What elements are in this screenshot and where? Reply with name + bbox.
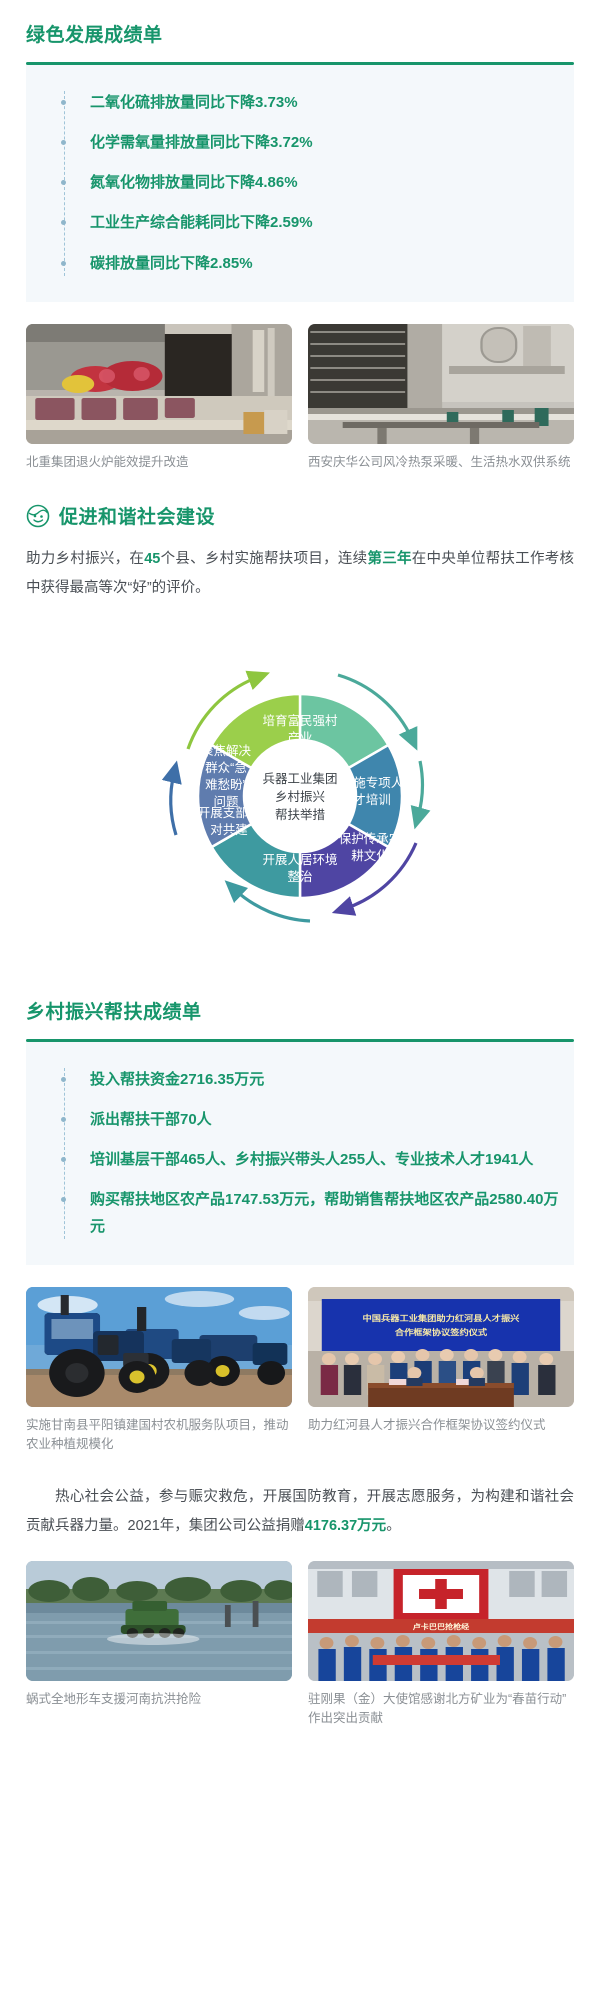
rural-section-title: 乡村振兴帮扶成绩单 (26, 999, 574, 1028)
annealing-furnace-photo (26, 324, 292, 444)
seg-label-industry-1: 培育富民强村 (262, 713, 338, 728)
list-item: 购买帮扶地区农产品1747.53万元，帮助销售帮扶地区农产品2580.40万元 (84, 1180, 564, 1247)
rural-image-col-2: 中国兵器工业集团助力红河县人才振兴 合作框架协议签约仪式 (308, 1287, 574, 1455)
harmony-paragraph: 助力乡村振兴，在45个县、乡村实施帮扶项目，连续第三年在中央单位帮扶工作考核中获… (26, 545, 574, 603)
embassy-thanks-photo: 卢卡巴巴抢枪经 (308, 1561, 574, 1681)
signing-ceremony-photo: 中国兵器工业集团助力红河县人才振兴 合作框架协议签约仪式 (308, 1287, 574, 1407)
seg-label-environment-1: 开展人居环境 (262, 852, 337, 867)
rural-image-row: 实施甘南县平阳镇建国村农机服务队项目，推动农业种植规模化 中国兵器工业集团助力红… (26, 1287, 574, 1455)
image-caption: 西安庆华公司风冷热泵采暖、生活热水双供系统 (308, 453, 574, 472)
seg-label-people-3: 难愁盼” (205, 778, 247, 792)
green-bullet-list: 二氧化硫排放量同比下降3.73% 化学需氧量排放量同比下降3.72% 氮氧化物排… (64, 83, 564, 284)
arrow-navy (171, 773, 176, 835)
welfare-highlight-donation: 4176.37万元 (305, 1518, 386, 1534)
list-item: 碳排放量同比下降2.85% (84, 244, 564, 284)
green-image-row: 北重集团退火炉能效提升改造 (26, 324, 574, 472)
arrow-teal-2 (418, 761, 422, 817)
seg-label-environment-2: 整治 (287, 869, 312, 884)
image-caption: 北重集团退火炉能效提升改造 (26, 453, 292, 472)
air-source-heat-pump-photo (308, 324, 574, 444)
harmony-section-header: 促进和谐社会建设 (0, 472, 600, 529)
rural-bullet-list: 投入帮扶资金2716.35万元 派出帮扶干部70人 培训基层干部465人、乡村振… (64, 1060, 564, 1247)
welfare-p1: 热心社会公益，参与赈灾救危，开展国防教育，开展志愿服务，为构建和谐社会贡献兵器力… (26, 1489, 574, 1534)
green-achievement-panel: 二氧化硫排放量同比下降3.73% 化学需氧量排放量同比下降3.72% 氮氧化物排… (26, 65, 574, 302)
center-label-1: 兵器工业集团 (262, 771, 337, 786)
welfare-image-col-1: 蜗式全地形车支援河南抗洪抢险 (26, 1561, 292, 1729)
green-section-header: 绿色发展成绩单 (0, 0, 600, 65)
image-caption: 实施甘南县平阳镇建国村农机服务队项目，推动农业种植规模化 (26, 1416, 292, 1455)
rural-image-col-1: 实施甘南县平阳镇建国村农机服务队项目，推动农业种植规模化 (26, 1287, 292, 1455)
flood-rescue-vehicle-photo (26, 1561, 292, 1681)
seg-label-people-2: 群众“急 (205, 760, 247, 775)
banner-text: 卢卡巴巴抢枪经 (413, 1621, 470, 1630)
seg-label-culture-1: 保护传承农 (339, 831, 402, 846)
green-section-title: 绿色发展成绩单 (26, 22, 574, 51)
rural-revitalization-donut-diagram: 培育富民强村 产业 实施专项人 才培训 保护传承农 耕文化 开展人居环境 整治 … (0, 621, 600, 951)
image-caption: 助力红河县人才振兴合作框架协议签约仪式 (308, 1416, 574, 1435)
harmony-highlight-counties: 45 (144, 551, 160, 567)
tractors-photo (26, 1287, 292, 1407)
welfare-image-col-2: 卢卡巴巴抢枪经 (308, 1561, 574, 1729)
harmony-highlight-thirdyear: 第三年 (367, 551, 411, 567)
harmony-section-title: 促进和谐社会建设 (59, 502, 215, 529)
svg-text:合作框架协议签约仪式: 合作框架协议签约仪式 (395, 1327, 488, 1337)
list-item: 二氧化硫排放量同比下降3.73% (84, 83, 564, 123)
rural-section-header: 乡村振兴帮扶成绩单 (0, 977, 600, 1042)
seg-label-culture-2: 耕文化 (351, 848, 389, 863)
report-page: 绿色发展成绩单 二氧化硫排放量同比下降3.73% 化学需氧量排放量同比下降3.7… (0, 0, 600, 1762)
list-item: 投入帮扶资金2716.35万元 (84, 1060, 564, 1100)
center-label-3: 帮扶举措 (275, 807, 325, 822)
green-image-col-2: 西安庆华公司风冷热泵采暖、生活热水双供系统 (308, 324, 574, 472)
svg-text:中国兵器工业集团助力红河县人才振兴: 中国兵器工业集团助力红河县人才振兴 (363, 1313, 520, 1323)
rural-achievement-panel: 投入帮扶资金2716.35万元 派出帮扶干部70人 培训基层干部465人、乡村振… (26, 1042, 574, 1265)
seg-label-people-1: 聚焦解决 (201, 744, 252, 758)
list-item: 化学需氧量排放量同比下降3.72% (84, 123, 564, 163)
seg-label-partybuilding-2: 对共建 (210, 823, 248, 837)
list-item: 培训基层干部465人、乡村振兴带头人255人、专业技术人才1941人 (84, 1140, 564, 1180)
harmony-p2: 个县、乡村实施帮扶项目，连续 (160, 551, 367, 567)
welfare-paragraph: 热心社会公益，参与赈灾救危，开展国防教育，开展志愿服务，为构建和谐社会贡献兵器力… (26, 1483, 574, 1541)
welfare-p2: 。 (386, 1518, 401, 1534)
seg-label-people-4: 问题 (213, 795, 239, 809)
list-item: 工业生产综合能耗同比下降2.59% (84, 203, 564, 243)
smiley-globe-icon (26, 504, 50, 528)
green-image-col-1: 北重集团退火炉能效提升改造 (26, 324, 292, 472)
list-item: 派出帮扶干部70人 (84, 1100, 564, 1140)
welfare-image-row: 蜗式全地形车支援河南抗洪抢险 (26, 1561, 574, 1729)
seg-label-training-2: 才培训 (353, 792, 391, 807)
image-caption: 驻刚果（金）大使馆感谢北方矿业为“春苗行动”作出突出贡献 (308, 1690, 574, 1729)
harmony-p1: 助力乡村振兴，在 (26, 551, 144, 567)
center-label-2: 乡村振兴 (275, 790, 325, 804)
image-caption: 蜗式全地形车支援河南抗洪抢险 (26, 1690, 292, 1709)
list-item: 氮氧化物排放量同比下降4.86% (84, 163, 564, 203)
